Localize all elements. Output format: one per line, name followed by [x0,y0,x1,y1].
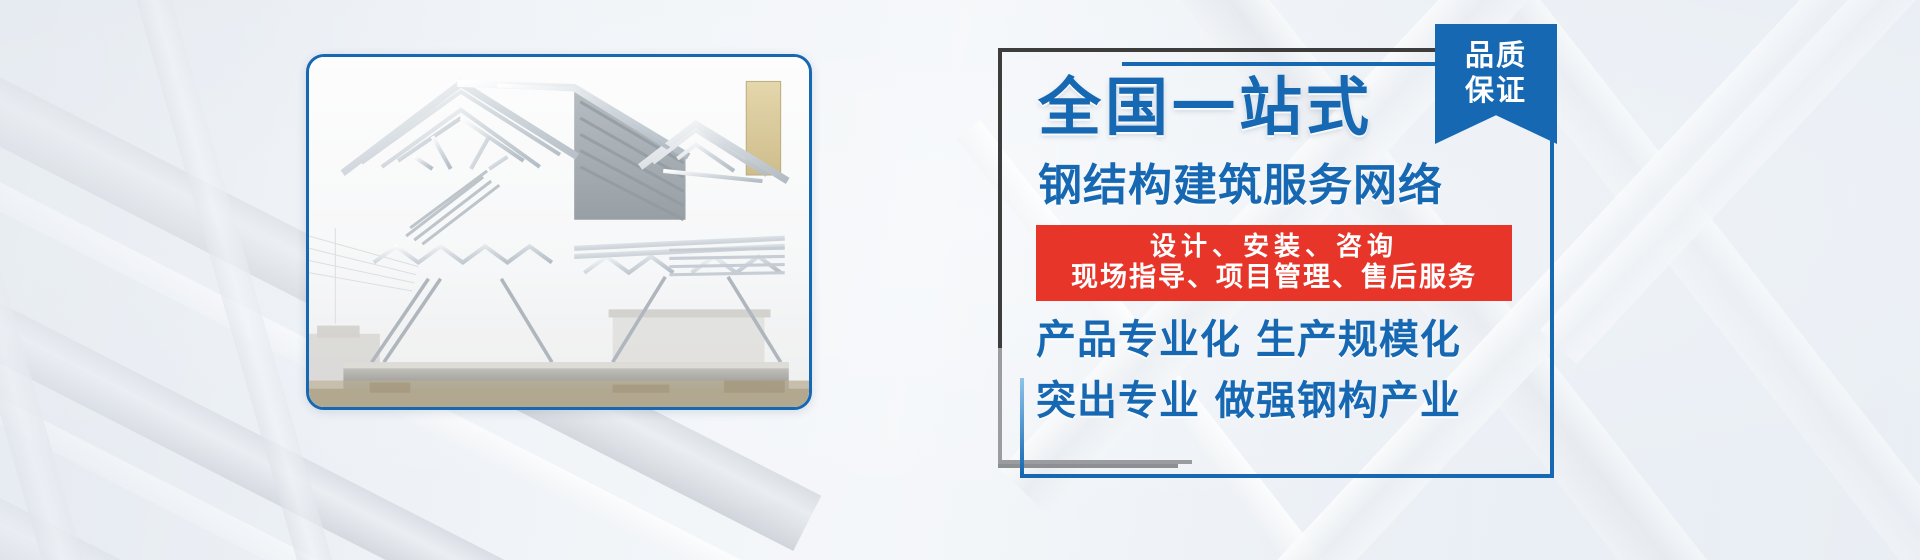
slogan-line-1: 产品专业化 生产规模化 [1036,320,1461,360]
hero-photo-card [306,54,812,410]
background-steel-truss-image [0,0,1920,560]
slogan-line-2: 突出专业 做强钢构产业 [1036,381,1461,421]
services-red-band: 设计、安装、咨询 现场指导、项目管理、售后服务 [1036,225,1512,301]
quality-guarantee-badge: 品质 保证 [1435,24,1557,144]
decorative-frame-blue-left-rule [1020,378,1024,474]
services-line-1: 设计、安装、咨询 [1150,232,1398,263]
promo-banner: 品质 保证 全国一站式 钢结构建筑服务网络 设计、安装、咨询 现场指导、项目管理… [0,0,1920,560]
background-haze-overlay [0,0,1920,560]
steel-frame-house-photo [309,57,809,407]
badge-line-2: 保证 [1465,73,1527,108]
subtitle: 钢结构建筑服务网络 [1038,164,1443,208]
badge-line-1: 品质 [1465,38,1527,73]
message-block: 品质 保证 全国一站式 钢结构建筑服务网络 设计、安装、咨询 现场指导、项目管理… [1010,48,1540,460]
headline: 全国一站式 [1038,76,1373,139]
services-line-2: 现场指导、项目管理、售后服务 [1071,262,1477,294]
